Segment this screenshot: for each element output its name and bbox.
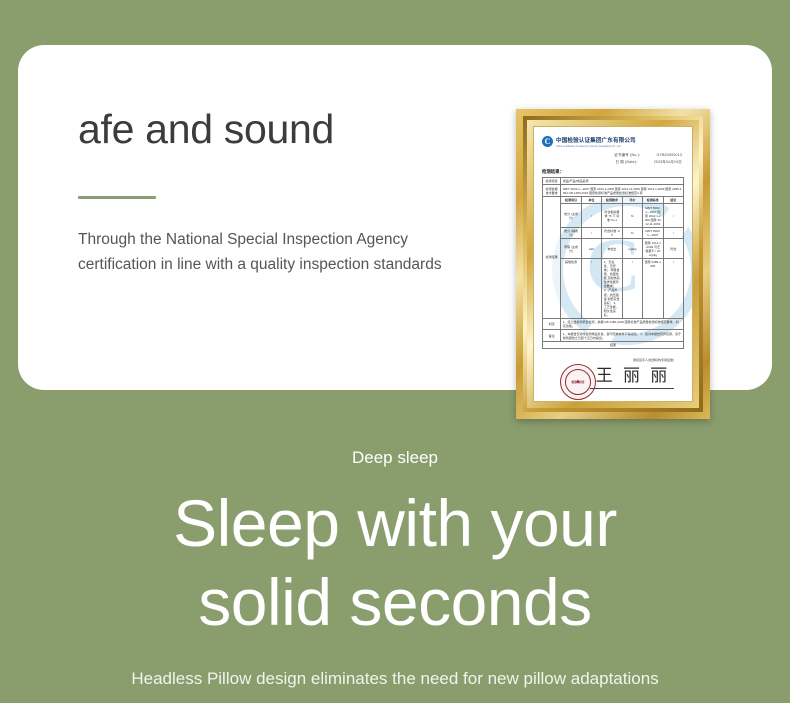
certificate-org-name-cn: 中国检验认证集团广东有限公司	[556, 136, 636, 144]
table-header-row: 检测结果 检测项目 单位 检测要求 评价 检测标准 结论	[543, 196, 684, 203]
certification-card: afe and sound Through the National Speci…	[18, 45, 772, 390]
cell-2-0: 甲醛 (主成分)	[561, 239, 581, 259]
cell-1-0: 成分 (辅成分)	[561, 227, 581, 238]
table-row: 判定 1、经上述检测项目检测，依据 GB 1480-2018 国家标准产品质量检…	[543, 318, 684, 329]
row-value-item: 成品/产品/成品名称	[561, 178, 684, 185]
certificate-signature-zone: 检验专用章 ★ 授权签字人(检测机构专用签章) 王 丽 丽 第 - 2 - 页共…	[542, 358, 684, 401]
promo-subtitle: Headless Pillow design eliminates the ne…	[0, 669, 790, 689]
certificate-number-value: GYBZ0000013	[657, 153, 682, 157]
footer-text-remark: 1、本报告仅对所检测样品负责，复印无效本件不得涂改。 2、如对本报告有异议者，请…	[561, 330, 684, 341]
footer-label-verdict: 判定	[543, 318, 561, 329]
promo-title-line-2: solid seconds	[0, 563, 790, 642]
cell-1-4: GB/T 5003.1—2007	[643, 227, 663, 238]
cell-3-2: 1、无毒性、无异味； 甲醛含量、抗菌性能 及耐热和化学性能符合要求； 2、产品外…	[602, 258, 622, 318]
cell-3-0: 其他检测	[561, 258, 581, 318]
cell-1-2: 符合标准 -95	[602, 227, 622, 238]
row-label-item: 检测项目	[543, 178, 561, 185]
official-seal-icon: 检验专用章 ★	[560, 364, 596, 400]
table-row: 成分 (辅成分) / 符合标准 -95 % GB/T 5003.1—2007 /	[543, 227, 684, 238]
cell-0-5: /	[663, 204, 683, 228]
cell-0-0: 成分 (主成分)	[561, 204, 581, 228]
column-header-4: 检测标准	[643, 196, 663, 203]
certificate-result-table: 检测项目 成品/产品/成品名称 检测依据 技术要求 GB/T 5003.1—20…	[542, 177, 684, 349]
table-tail-label: 结果	[543, 341, 684, 348]
cell-3-4: 国家 2289-1994	[643, 258, 663, 318]
cell-0-1: /	[581, 204, 601, 228]
table-side-label: 检测结果	[543, 196, 561, 318]
cell-1-3: %	[622, 227, 642, 238]
headline-divider	[78, 196, 156, 199]
table-row: 检测项目 成品/产品/成品名称	[543, 178, 684, 185]
footer-label-remark: 备注	[543, 330, 561, 341]
cell-3-1: /	[581, 258, 601, 318]
cell-2-1: ≤20	[581, 239, 601, 259]
signature-underline	[590, 388, 674, 389]
card-headline: afe and sound	[78, 107, 478, 152]
seal-star-icon: ★	[575, 379, 580, 386]
column-header-3: 评价	[622, 196, 642, 203]
cell-1-5: /	[663, 227, 683, 238]
certificate-header: C 中国检验认证集团广东有限公司 China Certification & I…	[542, 136, 684, 148]
cell-1-1: /	[581, 227, 601, 238]
cell-3-5: /	[663, 258, 683, 318]
certificate-subtitle: 检测结果：	[542, 169, 684, 175]
cell-2-4: 国家 2012.1-2009 可迁移量不> 20mg/kg	[643, 239, 663, 259]
certificate-number-row: 证书编号 (No.)：GYBZ0000013	[542, 153, 682, 158]
cell-0-3: %	[622, 204, 642, 228]
certificate-number-label: 证书编号 (No.)：	[614, 153, 642, 157]
promo-title-line-1: Sleep with your	[0, 484, 790, 563]
table-row: 检测依据 技术要求 GB/T 5003.1—2007 国家 2012.1-200…	[543, 185, 684, 196]
ccic-logo-icon: C	[542, 136, 553, 147]
column-header-5: 结论	[663, 196, 683, 203]
certificate-document: C C 中国检验认证集团广东有限公司 China Certification &…	[534, 127, 692, 401]
frame-bevel-inner: C C 中国检验认证集团广东有限公司 China Certification &…	[527, 120, 699, 408]
certificate-date-row: 日 期 (Date)：2023年04月24日	[542, 160, 682, 165]
column-header-1: 单位	[581, 196, 601, 203]
frame-mat: C C 中国检验认证集团广东有限公司 China Certification &…	[533, 126, 693, 402]
handwritten-signature: 王 丽 丽	[594, 367, 672, 384]
cell-2-2: 未检出	[602, 239, 622, 259]
promo-section: Deep sleep Sleep with your solid seconds…	[0, 420, 790, 703]
column-header-0: 检测项目	[561, 196, 581, 203]
cell-2-3: mg/kg	[622, 239, 642, 259]
table-row: 甲醛 (主成分) ≤20 未检出 mg/kg 国家 2012.1-2009 可迁…	[543, 239, 684, 259]
cell-0-4: GB/T 5003.1—2007 国家 2012.1-2009 国家 2012.…	[643, 204, 663, 228]
footer-text-verdict: 1、经上述检测项目检测，依据 GB 1480-2018 国家标准产品质量检测标准…	[561, 318, 684, 329]
certificate-date-label: 日 期 (Date)：	[615, 160, 639, 164]
cell-3-3: /	[622, 258, 642, 318]
certificate-photo-frame: C C 中国检验认证集团广东有限公司 China Certification &…	[516, 109, 710, 419]
table-row: 结果	[543, 341, 684, 348]
card-text-block: afe and sound Through the National Speci…	[78, 107, 478, 277]
certificate-org-name-en: China Certification & Inspection (Group)…	[556, 145, 636, 148]
table-row: 成分 (主成分) / 符合相关要求 75 下 标准 No.1 % GB/T 50…	[543, 204, 684, 228]
table-row: 其他检测 / 1、无毒性、无异味； 甲醛含量、抗菌性能 及耐热和化学性能符合要求…	[543, 258, 684, 318]
promo-eyebrow: Deep sleep	[0, 448, 790, 468]
column-header-2: 检测要求	[602, 196, 622, 203]
row-label-basis: 检测依据 技术要求	[543, 185, 561, 196]
cell-0-2: 符合相关要求 75 下 标准 No.1	[602, 204, 622, 228]
cell-2-5: 符合	[663, 239, 683, 259]
promo-title: Sleep with your solid seconds	[0, 484, 790, 642]
certificate-meta: 证书编号 (No.)：GYBZ0000013 日 期 (Date)：2023年0…	[542, 153, 684, 166]
signature-label: 授权签字人(检测机构专用签章)	[633, 358, 674, 362]
card-body-text: Through the National Special Inspection …	[78, 227, 463, 277]
certificate-date-value: 2023年04月24日	[654, 160, 682, 164]
frame-bevel-outer: C C 中国检验认证集团广东有限公司 China Certification &…	[523, 116, 703, 412]
row-value-basis: GB/T 5003.1—2007 国家 2012.1-2009 国家 2012.…	[561, 185, 684, 196]
table-row: 备注 1、本报告仅对所检测样品负责，复印无效本件不得涂改。 2、如对本报告有异议…	[543, 330, 684, 341]
